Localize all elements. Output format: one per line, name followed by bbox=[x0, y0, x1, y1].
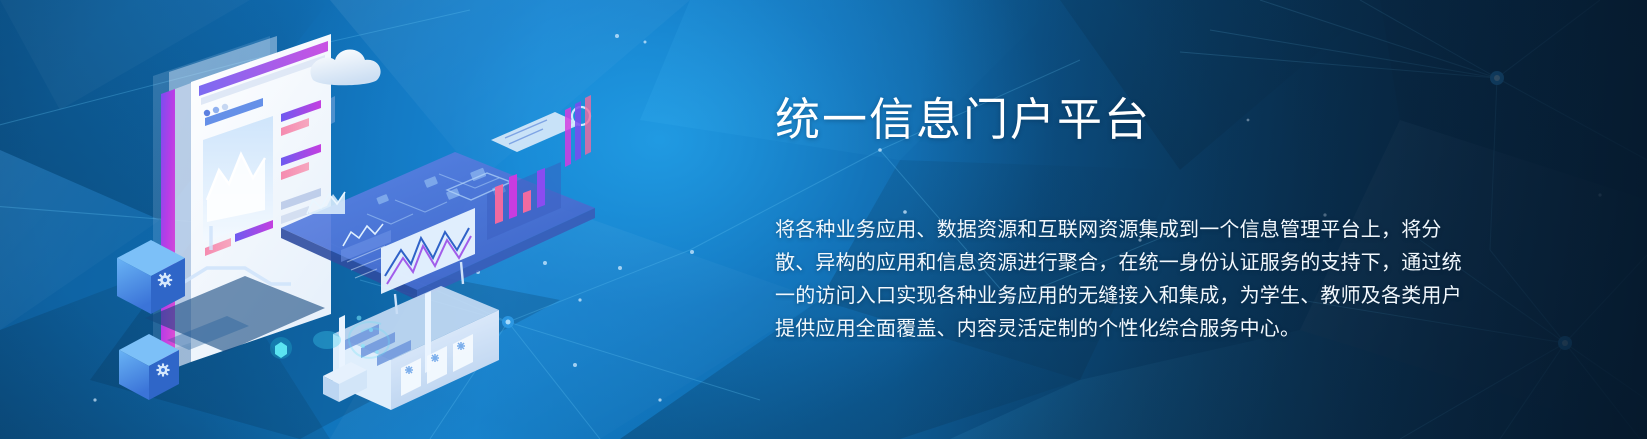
page-description: 将各种业务应用、数据资源和互联网资源集成到一个信息管理平台上，将分散、异构的应用… bbox=[775, 214, 1475, 346]
server-rack bbox=[313, 286, 499, 410]
hero-banner: 统一信息门户平台 将各种业务应用、数据资源和互联网资源集成到一个信息管理平台上，… bbox=[0, 0, 1647, 439]
banner-content: 统一信息门户平台 将各种业务应用、数据资源和互联网资源集成到一个信息管理平台上，… bbox=[775, 92, 1495, 346]
page-title: 统一信息门户平台 bbox=[775, 92, 1495, 148]
glow-node bbox=[270, 337, 292, 359]
accent-bars bbox=[565, 95, 591, 167]
isometric-illustration bbox=[95, 18, 615, 418]
